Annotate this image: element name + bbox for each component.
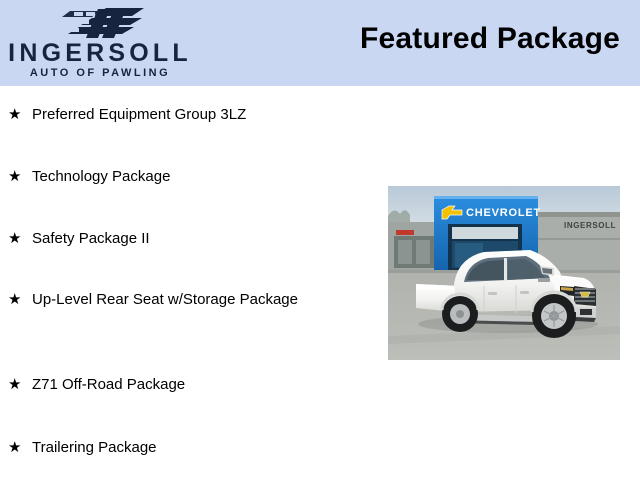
list-item: ★Safety Package II — [8, 228, 338, 249]
list-item-label: Trailering Package — [32, 437, 338, 458]
list-item: ★Technology Package — [8, 166, 338, 187]
svg-text:INGERSOLL: INGERSOLL — [564, 221, 616, 230]
list-item-label: Technology Package — [32, 166, 338, 187]
list-item-label: Preferred Equipment Group 3LZ — [32, 104, 338, 125]
brand-tagline: AUTO OF PAWLING — [4, 67, 196, 79]
star-bullet-icon: ★ — [8, 228, 32, 249]
star-bullet-icon: ★ — [8, 166, 32, 187]
list-item-label: Safety Package II — [32, 228, 338, 249]
list-item-label: Up-Level Rear Seat w/Storage Package — [32, 289, 338, 310]
list-item-label: Z71 Off-Road Package — [32, 374, 338, 395]
brand-wordmark: INGERSOLL — [4, 40, 196, 66]
header-band: INGERSOLL AUTO OF PAWLING Featured Packa… — [0, 0, 640, 86]
star-bullet-icon: ★ — [8, 289, 32, 310]
list-item: ★Trailering Package — [8, 437, 338, 458]
brand-logo: INGERSOLL AUTO OF PAWLING — [0, 2, 200, 86]
list-item: ★Z71 Off-Road Package — [8, 374, 338, 395]
list-item: ★Up-Level Rear Seat w/Storage Package — [8, 289, 338, 310]
list-item: ★Preferred Equipment Group 3LZ — [8, 104, 338, 125]
ingersoll-wing-emblem-icon — [48, 7, 160, 40]
page-title: Featured Package — [360, 22, 620, 56]
star-bullet-icon: ★ — [8, 374, 32, 395]
star-bullet-icon: ★ — [8, 437, 32, 458]
vehicle-photo: INGERSOLL CHEVROLET — [388, 186, 620, 360]
star-bullet-icon: ★ — [8, 104, 32, 125]
svg-text:CHEVROLET: CHEVROLET — [466, 207, 541, 219]
